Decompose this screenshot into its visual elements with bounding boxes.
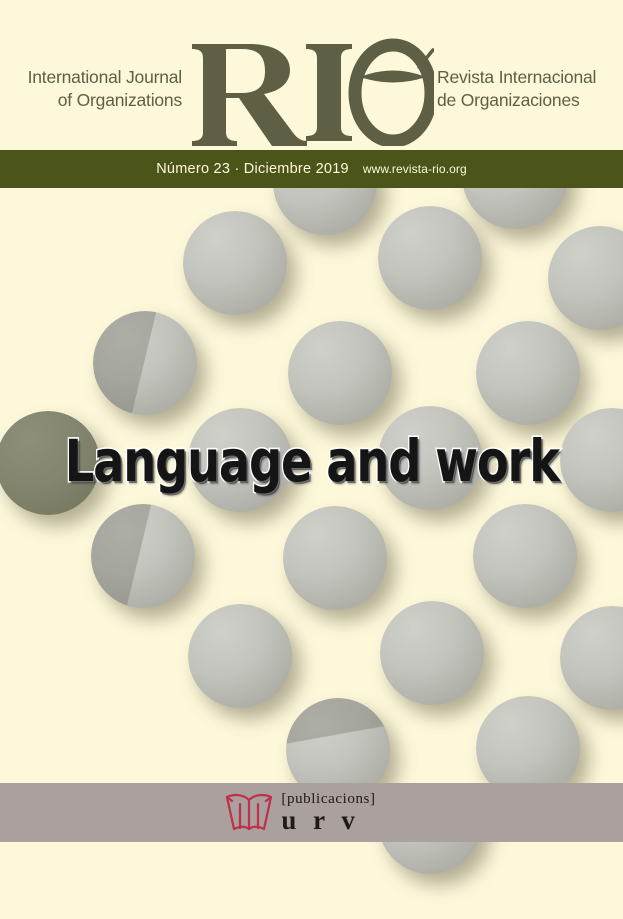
pattern-disc xyxy=(560,408,623,512)
pattern-disc xyxy=(183,211,287,315)
issue-number-date: Número 23 · Diciembre 2019 xyxy=(156,161,349,177)
publicacions-urv-logo[interactable]: [publicacions] u r v xyxy=(223,788,375,837)
disc-body xyxy=(0,411,100,515)
disc-body xyxy=(378,406,482,510)
disc-body xyxy=(380,601,484,705)
pattern-disc xyxy=(273,188,377,235)
pattern-disc xyxy=(476,321,580,425)
pattern-disc xyxy=(288,321,392,425)
disc-body xyxy=(288,321,392,425)
pattern-disc xyxy=(473,504,577,608)
disc-body xyxy=(462,188,568,229)
pattern-disc xyxy=(91,504,195,608)
urv-label: u r v xyxy=(281,807,375,834)
masthead-spanish-line-2: de Organizaciones xyxy=(437,89,623,112)
disc-body xyxy=(378,206,482,310)
pattern-disc xyxy=(462,188,568,229)
pattern-disc xyxy=(548,226,623,330)
masthead-spanish-line-1: Revista Internacional xyxy=(437,66,623,89)
publisher-band: [publicacions] u r v xyxy=(0,783,623,842)
pattern-disc xyxy=(380,601,484,705)
disc-body xyxy=(476,321,580,425)
journal-cover: Language and work International Journal … xyxy=(0,0,623,919)
disc-body xyxy=(378,842,482,874)
open-book-icon xyxy=(223,788,275,837)
masthead-english-title: International Journal of Organizations xyxy=(0,66,182,112)
pattern-disc xyxy=(188,408,292,512)
issue-band: Número 23 · Diciembre 2019 www.revista-r… xyxy=(0,150,623,188)
pattern-disc xyxy=(378,842,482,874)
disc-body xyxy=(473,504,577,608)
disc-body xyxy=(283,506,387,610)
pattern-disc xyxy=(93,311,197,415)
disc-body xyxy=(560,408,623,512)
pattern-disc xyxy=(378,206,482,310)
disc-body xyxy=(183,211,287,315)
disc-body xyxy=(273,188,377,235)
masthead-english-line-1: International Journal xyxy=(0,66,182,89)
pattern-disc xyxy=(188,604,292,708)
disc-body xyxy=(560,606,623,710)
masthead: International Journal of Organizations xyxy=(0,0,623,150)
pattern-disc xyxy=(378,406,482,510)
disc-body xyxy=(548,226,623,330)
masthead-english-line-2: of Organizations xyxy=(0,89,182,112)
pattern-disc xyxy=(0,411,100,515)
rio-logotype xyxy=(186,36,434,146)
disc-body xyxy=(188,408,292,512)
bottom-strip xyxy=(0,842,623,919)
pattern-disc xyxy=(283,506,387,610)
disc-body xyxy=(188,604,292,708)
urv-wordmark: [publicacions] u r v xyxy=(281,792,375,834)
masthead-spanish-title: Revista Internacional de Organizaciones xyxy=(437,66,623,112)
pattern-disc xyxy=(560,606,623,710)
journal-website-link[interactable]: www.revista-rio.org xyxy=(363,162,467,176)
